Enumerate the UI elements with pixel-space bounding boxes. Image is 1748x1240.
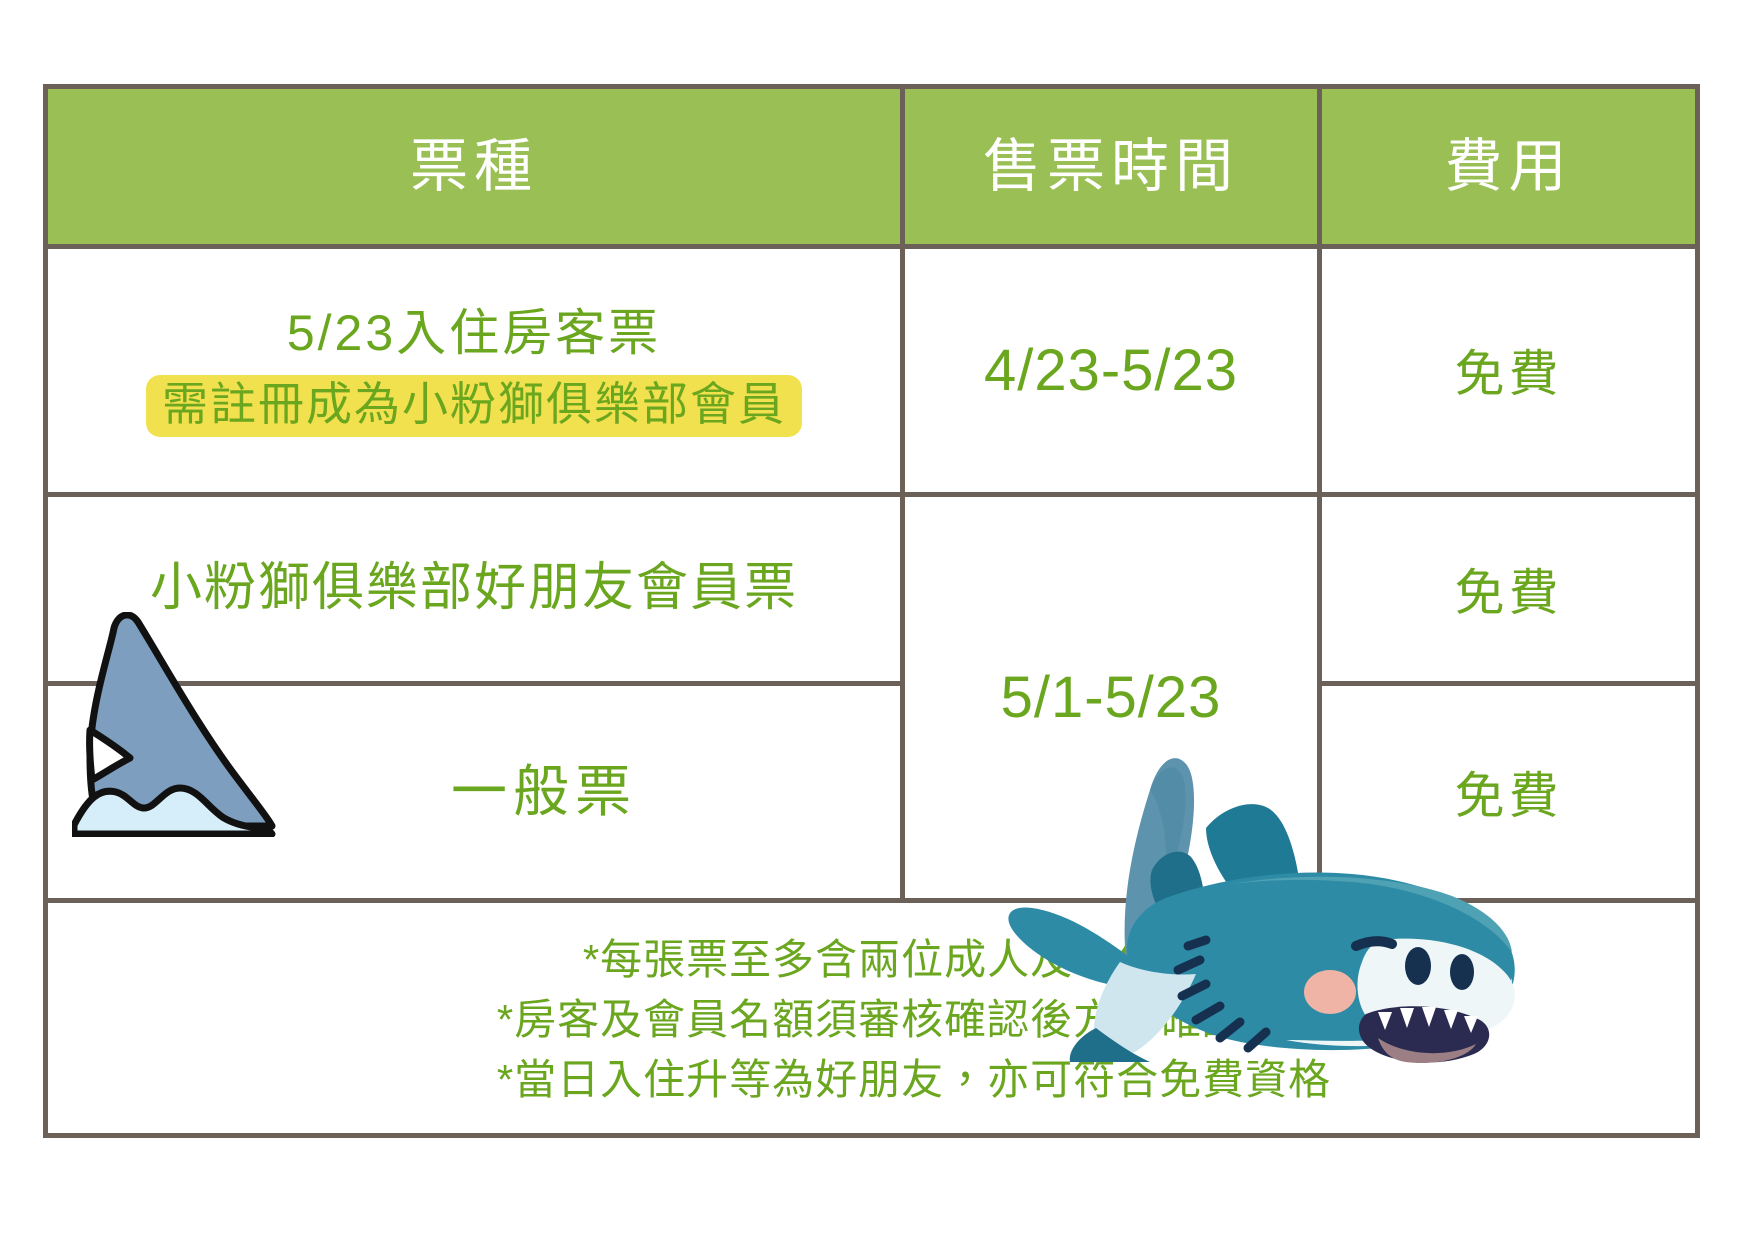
ticket-type-cell-houseguest: 5/23入住房客票 需註冊成為小粉獅俱樂部會員: [46, 247, 903, 495]
table-row: 5/23入住房客票 需註冊成為小粉獅俱樂部會員 4/23-5/23 免費: [46, 247, 1698, 495]
table-notes-row: *每張票至多含兩位成人及一位孩童 *房客及會員名額須審核確認後方可確認參加 *當…: [46, 900, 1698, 1135]
sale-period-cell-houseguest: 4/23-5/23: [903, 247, 1320, 495]
table-header-row: 票種 售票時間 費用: [46, 87, 1698, 247]
fee-cell-houseguest: 免費: [1320, 247, 1698, 495]
ticket-type-note-wrapper: 需註冊成為小粉獅俱樂部會員: [48, 369, 900, 438]
note-line: *當日入住升等為好朋友，亦可符合免費資格: [133, 1050, 1695, 1110]
column-header-sale-period: 售票時間: [903, 87, 1320, 247]
column-header-ticket-type: 票種: [46, 87, 903, 247]
table-row: 一般票 免費: [46, 684, 1698, 901]
fee-cell-general: 免費: [1320, 684, 1698, 901]
ticket-type-label: 一般票: [48, 761, 900, 823]
note-line: *房客及會員名額須審核確認後方可確認參加: [133, 990, 1695, 1050]
sale-period-cell-shared: 5/1-5/23: [903, 494, 1320, 900]
table-row: 小粉獅俱樂部好朋友會員票 5/1-5/23 免費: [46, 494, 1698, 683]
ticket-type-cell-member: 小粉獅俱樂部好朋友會員票: [46, 494, 903, 683]
ticket-type-label: 小粉獅俱樂部好朋友會員票: [48, 560, 900, 617]
notes-list: *每張票至多含兩位成人及一位孩童 *房客及會員名額須審核確認後方可確認參加 *當…: [48, 926, 1695, 1109]
fee-cell-member: 免費: [1320, 494, 1698, 683]
notes-cell: *每張票至多含兩位成人及一位孩童 *房客及會員名額須審核確認後方可確認參加 *當…: [46, 900, 1698, 1135]
poster-canvas: 票種 售票時間 費用 5/23入住房客票 需註冊成為小粉獅俱樂部會員 4/23-…: [0, 0, 1748, 1240]
membership-requirement-badge: 需註冊成為小粉獅俱樂部會員: [146, 375, 802, 438]
ticket-pricing-table: 票種 售票時間 費用 5/23入住房客票 需註冊成為小粉獅俱樂部會員 4/23-…: [43, 84, 1700, 1138]
ticket-type-label: 5/23入住房客票: [48, 304, 900, 363]
note-line: *每張票至多含兩位成人及一位孩童: [133, 930, 1695, 990]
ticket-type-cell-general: 一般票: [46, 684, 903, 901]
column-header-fee: 費用: [1320, 87, 1698, 247]
